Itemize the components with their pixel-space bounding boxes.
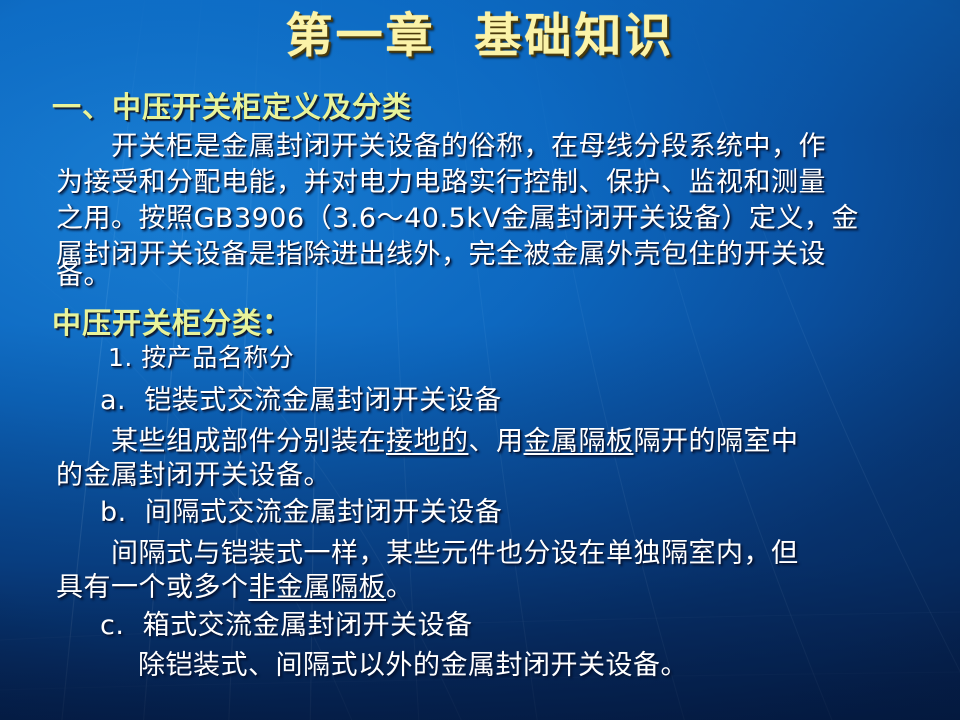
paragraph1-line-1: 开关柜是金属封闭开关设备的俗称，在母线分段系统中，作 xyxy=(56,133,826,160)
item-a-desc-mid: 、用 xyxy=(469,426,524,457)
slide-canvas: 第一章 基础知识 一、中压开关柜定义及分类 开关柜是金属封闭开关设备的俗称，在母… xyxy=(0,0,960,720)
item-c-description: 除铠装式、间隔式以外的金属封闭开关设备。 xyxy=(138,652,688,679)
item-b-desc-underline-nonmetal-partition: 非金属隔板 xyxy=(249,572,387,603)
paragraph1-line-5: 备。 xyxy=(56,262,111,289)
item-a-desc-underline-grounded: 接地的 xyxy=(386,426,469,457)
item-a-desc-underline-metal-partition: 金属隔板 xyxy=(524,426,634,457)
paragraph1-line-4: 属封闭开关设备是指除进出线外，完全被金属外壳包住的开关设 xyxy=(56,241,826,268)
list-item-a: a. 铠装式交流金属封闭开关设备 xyxy=(100,387,502,414)
list-item-b: b. 间隔式交流金属封闭开关设备 xyxy=(100,499,502,526)
item-b-desc-post: 。 xyxy=(386,572,414,603)
item-a-desc-pre: 某些组成部件分别装在 xyxy=(56,426,386,457)
list-item-c: c. 箱式交流金属封闭开关设备 xyxy=(100,612,473,639)
classification-heading: 中压开关柜分类： xyxy=(52,300,292,342)
paragraph1-line-2: 为接受和分配电能，并对电力电路实行控制、保护、监视和测量 xyxy=(56,169,826,196)
slide-content: 第一章 基础知识 一、中压开关柜定义及分类 开关柜是金属封闭开关设备的俗称，在母… xyxy=(0,0,960,720)
item-b-desc-pre: 具有一个或多个 xyxy=(56,572,249,603)
item-a-desc-post: 隔开的隔室中 xyxy=(634,426,799,457)
item-a-description-line-2: 的金属封闭开关设备。 xyxy=(56,462,331,489)
item-b-description-line-1: 间隔式与铠装式一样，某些元件也分设在单独隔室内，但 xyxy=(56,540,799,567)
item-a-description-line-1: 某些组成部件分别装在接地的、用金属隔板隔开的隔室中 xyxy=(56,428,799,455)
list-item-1: 1. 按产品名称分 xyxy=(108,345,294,370)
item-b-description-line-2: 具有一个或多个非金属隔板。 xyxy=(56,574,414,601)
slide-title: 第一章 基础知识 xyxy=(0,12,960,61)
paragraph1-line-3: 之用。按照GB3906（3.6～40.5kV金属封闭开关设备）定义，金 xyxy=(56,205,859,232)
section-heading: 一、中压开关柜定义及分类 xyxy=(52,84,412,126)
